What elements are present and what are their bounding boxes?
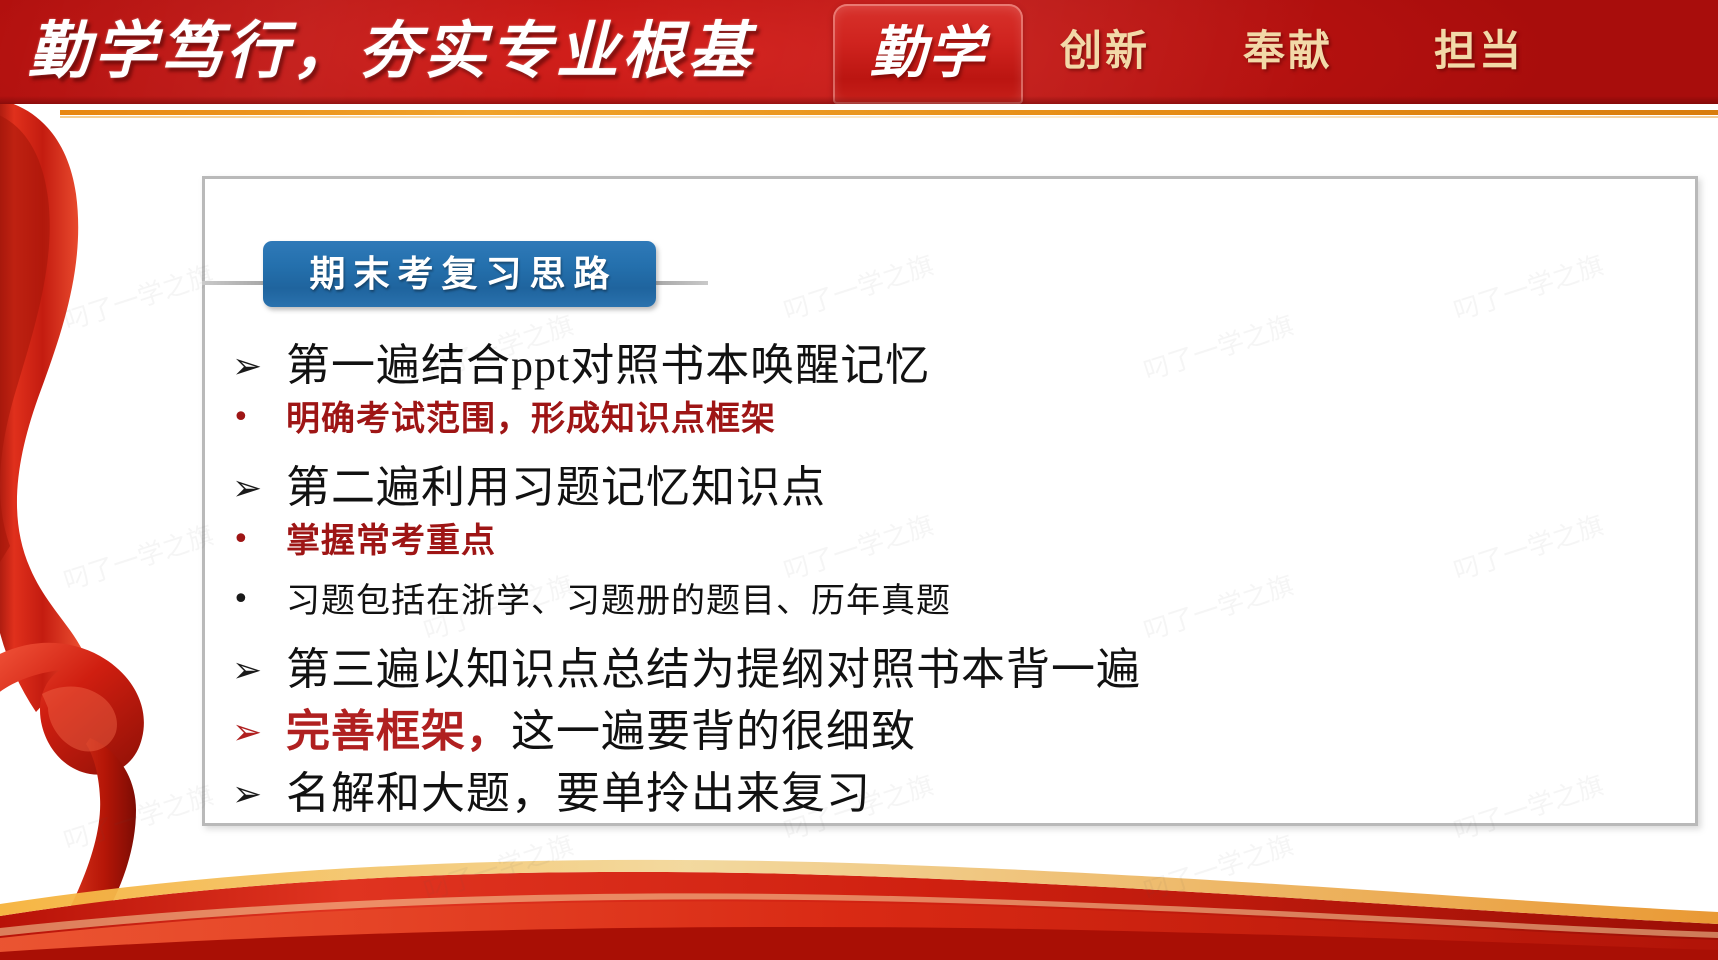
gold-rule [60,110,1718,115]
slide-body: 叼了一学之旗 叼了一学之旗 叼了一学之旗 叼了一学之旗 叼了一学之旗 叼了一学之… [0,104,1718,960]
qinxue-badge: 勤学 [833,4,1023,104]
list-item-text-emphasis: 完善框架， [286,707,511,756]
dot-bullet-icon: • [232,582,286,617]
header-banner: 勤学笃行，夯实专业根基 勤学 创新 奉献 担当 [0,0,1718,104]
list-item: ➢ 第二遍利用习题记忆知识点 [232,451,1652,513]
slide-root: 勤学笃行，夯实专业根基 勤学 创新 奉献 担当 [0,0,1718,960]
arrow-bullet-icon: ➢ [232,650,286,691]
tab-rule-left [202,281,264,285]
list-item: ➢ 名解和大题，要单拎出来复习 [232,757,1652,819]
arrow-bullet-icon: ➢ [232,468,286,509]
bottom-swoosh-decoration [0,820,1718,960]
list-item-text: 第一遍结合ppt对照书本唤醒记忆 [286,329,930,393]
list-item: • 明确考试范围，形成知识点框架 [232,391,1652,451]
section-tab: 期末考复习思路 [263,241,656,307]
keyword-fengxian: 奉献 [1243,20,1333,84]
banner-slogan: 勤学笃行，夯实专业根基 [28,6,788,98]
tab-rule-right [656,281,708,285]
list-item-text: 掌握常考重点 [286,513,496,562]
list-item: ➢ 第三遍以知识点总结为提纲对照书本背一遍 [232,633,1652,695]
list-item: ➢ 第一遍结合ppt对照书本唤醒记忆 [232,329,1652,391]
list-item-text: 明确考试范围，形成知识点框架 [286,391,776,440]
keyword-dandang: 担当 [1434,20,1524,84]
qinxue-badge-label: 勤学 [833,4,1023,104]
arrow-bullet-icon: ➢ [232,774,286,815]
list-item-text: 习题包括在浙学、习题册的题目、历年真题 [286,573,951,622]
list-item-text: 第二遍利用习题记忆知识点 [286,451,826,515]
list-item-text: 完善框架，这一遍要背的很细致 [286,695,916,759]
dot-bullet-icon: • [232,400,286,435]
list-item: • 习题包括在浙学、习题册的题目、历年真题 [232,573,1652,633]
arrow-bullet-icon: ➢ [232,346,286,387]
list-item: ➢ 完善框架，这一遍要背的很细致 [232,695,1652,757]
arrow-bullet-icon: ➢ [232,712,286,753]
section-tab-label: 期末考复习思路 [263,241,656,307]
keyword-chuangxin: 创新 [1060,20,1150,84]
list-item: • 掌握常考重点 [232,513,1652,573]
gold-rule-highlight [60,116,1718,118]
bullet-list: ➢ 第一遍结合ppt对照书本唤醒记忆 • 明确考试范围，形成知识点框架 ➢ 第二… [232,329,1652,819]
list-item-text: 名解和大题，要单拎出来复习 [286,757,871,821]
list-item-text: 第三遍以知识点总结为提纲对照书本背一遍 [286,633,1141,697]
dot-bullet-icon: • [232,522,286,557]
list-item-text-rest: 这一遍要背的很细致 [511,707,916,756]
